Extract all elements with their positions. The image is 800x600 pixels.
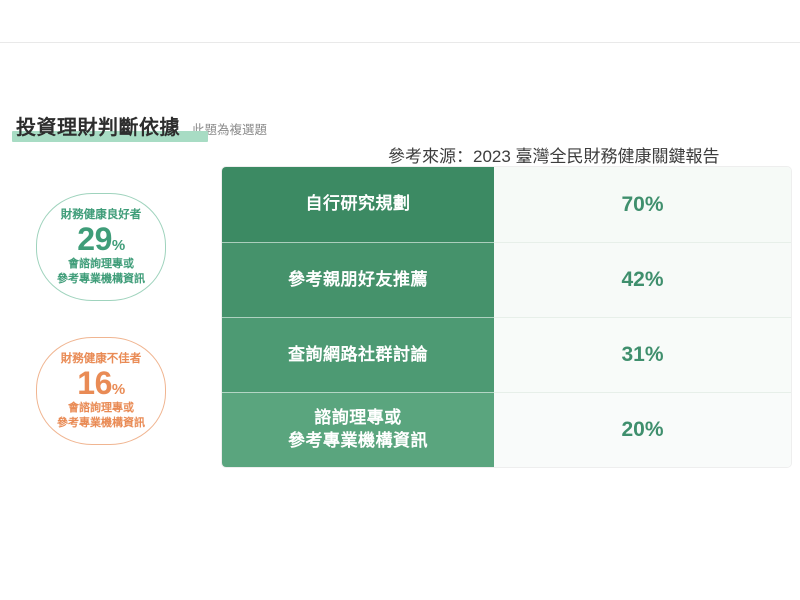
badge-healthy: 財務健康良好者 29% 會諮詢理專或 參考專業機構資訊 [36, 193, 166, 301]
badge-healthy-number: 29 [77, 221, 112, 257]
badge-unhealthy-desc-line1: 會諮詢理專或 [57, 401, 145, 415]
badge-unhealthy-percent-sign: % [112, 381, 125, 398]
badge-healthy-percent-sign: % [112, 237, 125, 254]
table-row-value: 70% [494, 167, 791, 242]
badge-unhealthy-value: 16% [77, 367, 124, 399]
table-row-label-line1: 諮詢理專或 [288, 407, 428, 430]
badge-unhealthy-label: 財務健康不佳者 [61, 352, 142, 366]
source-citation: 參考來源：2023 臺灣全民財務健康關鍵報告 [388, 142, 720, 167]
table-row-value: 42% [494, 242, 791, 317]
badge-unhealthy-desc-line2: 參考專業機構資訊 [57, 416, 145, 430]
table-row-value: 31% [494, 317, 791, 392]
page-title-group: 投資理財判斷依據 此題為複選題 [14, 118, 267, 138]
table-row-label-line2: 參考專業機構資訊 [288, 430, 428, 453]
badge-unhealthy-number: 16 [77, 365, 112, 401]
table-row-label: 參考親朋好友推薦 [222, 242, 494, 317]
badge-healthy-label: 財務健康良好者 [61, 208, 142, 222]
top-divider [0, 42, 800, 43]
table-row-label: 自行研究規劃 [222, 167, 494, 242]
table-row: 自行研究規劃 70% [222, 167, 791, 242]
table-row-label-line1: 自行研究規劃 [306, 193, 411, 216]
badge-healthy-desc-line1: 會諮詢理專或 [57, 257, 145, 271]
table-row-label-line1: 參考親朋好友推薦 [288, 269, 428, 292]
table-row-label-line1: 查詢網路社群討論 [288, 344, 428, 367]
page-title: 投資理財判斷依據 [14, 118, 182, 138]
results-table: 自行研究規劃 70% 參考親朋好友推薦 42% 查詢網路社群討論 31% 諮詢理… [222, 167, 791, 467]
badge-unhealthy-description: 會諮詢理專或 參考專業機構資訊 [57, 401, 145, 430]
table-row: 諮詢理專或 參考專業機構資訊 20% [222, 392, 791, 467]
table-row: 參考親朋好友推薦 42% [222, 242, 791, 317]
badge-unhealthy: 財務健康不佳者 16% 會諮詢理專或 參考專業機構資訊 [36, 337, 166, 445]
table-row-label: 查詢網路社群討論 [222, 317, 494, 392]
badge-healthy-desc-line2: 參考專業機構資訊 [57, 272, 145, 286]
table-row: 查詢網路社群討論 31% [222, 317, 791, 392]
badge-healthy-value: 29% [77, 223, 124, 255]
table-row-label: 諮詢理專或 參考專業機構資訊 [222, 392, 494, 467]
table-row-value: 20% [494, 392, 791, 467]
badge-healthy-description: 會諮詢理專或 參考專業機構資訊 [57, 257, 145, 286]
